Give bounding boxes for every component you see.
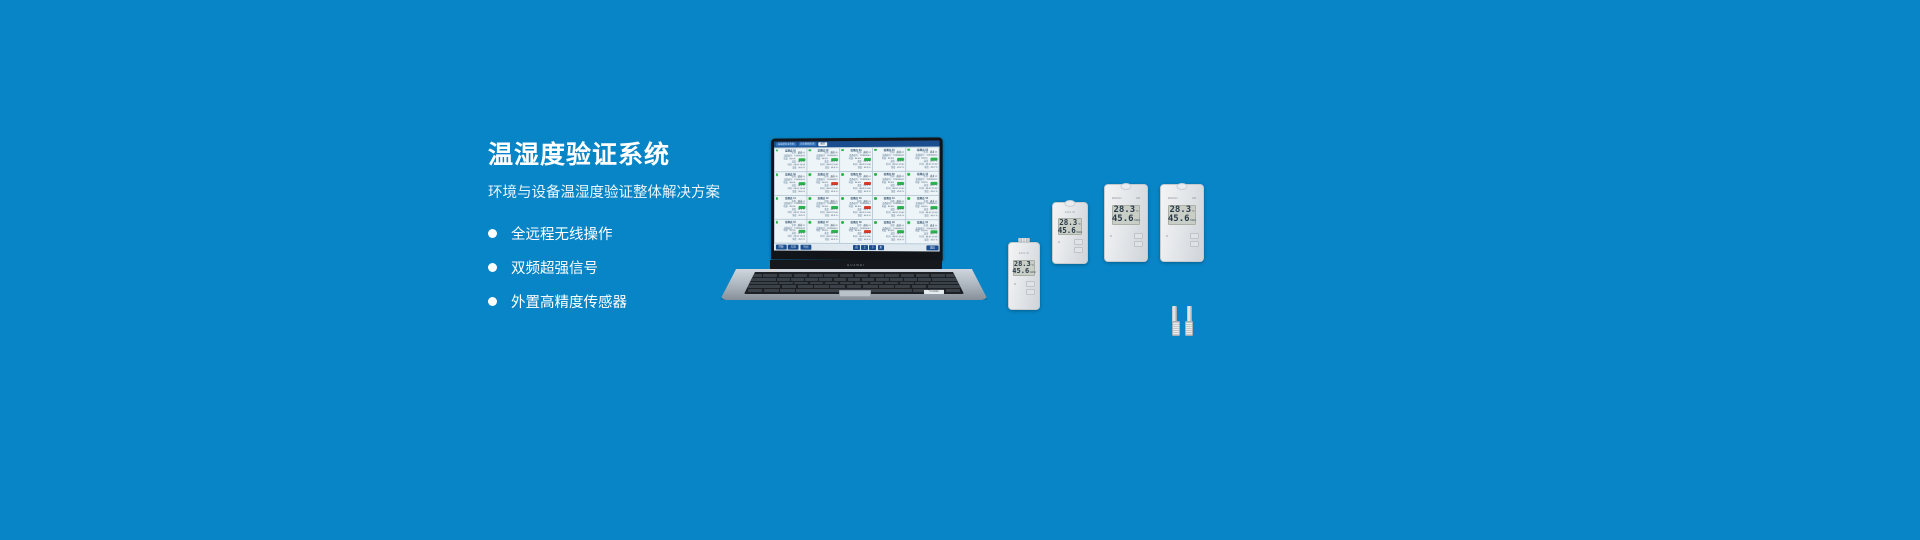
card-field-key: 湿度:: [858, 167, 863, 170]
card-title: 监测点 15: [908, 197, 938, 200]
device-lcd-display: 28.3 ℃ 45.6 %RH: [1112, 205, 1140, 225]
card-status-led-icon: [874, 197, 876, 199]
card-field: 湿度:45.6 %: [874, 167, 904, 170]
lcd-humidity-row: 45.6 %RH: [1171, 215, 1193, 224]
export-button[interactable]: 导出: [800, 244, 811, 250]
key[interactable]: [918, 278, 931, 281]
key[interactable]: [834, 278, 847, 281]
key[interactable]: [912, 285, 927, 288]
key[interactable]: [885, 274, 899, 277]
card-field-key: 湿度:: [891, 215, 896, 218]
device-brand-label: ENGIN: [1009, 252, 1039, 255]
status-led-icon: [1058, 241, 1060, 243]
device-button-up[interactable]: [1190, 233, 1199, 239]
key[interactable]: [830, 285, 845, 288]
device-body: ENGIN H8 28.3 ℃ 45.6 %RH: [1104, 184, 1148, 262]
keyboard-row: [748, 285, 960, 288]
device-lcd-display: 28.3 ℃ 45.6 %RH: [1058, 218, 1082, 235]
card-field-key: 电量:: [849, 182, 854, 185]
monitoring-card[interactable]: 监测点 15名称:通道 01设备编号:T23050012电量:95.6%温度:2…: [906, 196, 939, 220]
card-field-value: 45.6 %: [897, 215, 904, 218]
key[interactable]: [870, 282, 884, 285]
key[interactable]: [748, 278, 776, 281]
card-field-key: 电量:: [816, 206, 821, 209]
card-field-key: 湿度:: [825, 191, 830, 194]
status-led-icon: [1110, 235, 1112, 237]
device-body: ENGIN 28.3 ℃ 45.6 %RH: [1008, 242, 1040, 310]
device-button-group: [1190, 233, 1199, 247]
monitoring-card[interactable]: 监测点 20名称:通道 01设备编号:T23050012电量:95.6%温度:2…: [906, 220, 939, 244]
card-title: 监测点 11: [776, 197, 805, 200]
card-field-key: 湿度:: [792, 191, 797, 194]
card-field-key: 电量:: [915, 206, 920, 209]
card-field-value: 45.6 %: [798, 167, 805, 170]
key[interactable]: [931, 274, 945, 277]
card-field-value: 45.6 %: [831, 239, 838, 242]
card-field-key: 电量:: [783, 206, 788, 209]
key[interactable]: [798, 285, 813, 288]
card-field-key: 电量:: [783, 182, 788, 185]
card-field-value: 45.6 %: [798, 215, 805, 218]
device-body: ENGIN H8 28.3 ℃ 45.6 %RH: [1160, 184, 1204, 262]
card-field: 湿度:45.6 %: [841, 191, 870, 194]
key[interactable]: [824, 274, 838, 277]
card-field-key: 湿度:: [792, 239, 797, 242]
card-title: 监测点 14: [874, 197, 904, 200]
card-field: 湿度:45.6 %: [776, 239, 805, 242]
card-field-key: 湿度:: [924, 215, 929, 218]
monitoring-card[interactable]: 监测点 12名称:通道 01设备编号:T23050012电量:95.6%温度:2…: [807, 196, 839, 219]
card-field-value: 45.6 %: [931, 191, 938, 194]
key[interactable]: [825, 282, 839, 285]
card-field-key: 电量:: [882, 206, 887, 209]
laptop-brand-label: HUAWEI: [770, 260, 942, 269]
card-field-key: 湿度:: [858, 215, 863, 218]
key[interactable]: [885, 282, 899, 285]
device-button-up[interactable]: [1074, 239, 1083, 245]
device-button-group: [1074, 239, 1083, 253]
card-field: 湿度:45.6 %: [809, 215, 838, 218]
feature-label: 外置高精度传感器: [511, 291, 627, 312]
card-field-value: 45.6 %: [864, 215, 871, 218]
card-field-key: 湿度:: [891, 239, 896, 242]
key[interactable]: [748, 289, 762, 292]
card-status-led-icon: [908, 173, 910, 175]
key[interactable]: [946, 289, 960, 292]
hanging-hook: [1121, 183, 1132, 190]
key[interactable]: [819, 278, 832, 281]
card-field: 湿度:45.6 %: [809, 191, 838, 194]
card-field-key: 湿度:: [825, 239, 830, 242]
key[interactable]: [862, 278, 875, 281]
card-field-value: 45.6 %: [798, 191, 805, 194]
device-label-row: ENGIN H8: [1161, 196, 1203, 200]
laptop-screen: 温湿度验证系统 历史数据查询 报警 监测点 01名称:通道 01设备编号:T23…: [774, 140, 940, 251]
lcd-temperature-unit: ℃: [1136, 211, 1139, 214]
card-field: 湿度:45.6 %: [841, 215, 870, 218]
device-button-group: [1134, 233, 1143, 247]
card-field-key: 湿度:: [924, 167, 929, 170]
key[interactable]: [932, 278, 960, 281]
card-status-led-icon: [809, 173, 811, 175]
device-button-up[interactable]: [1134, 233, 1143, 239]
card-field: 湿度:45.6 %: [809, 239, 838, 242]
monitoring-card[interactable]: 监测点 18名称:通道 01设备编号:T23050012电量:95.6%温度:2…: [840, 220, 872, 244]
feature-label: 双频超强信号: [511, 257, 598, 278]
card-field: 湿度:45.6 %: [908, 239, 938, 242]
card-field-key: 湿度:: [792, 215, 797, 218]
device-button-down[interactable]: [1074, 247, 1083, 253]
card-field-key: 湿度:: [825, 215, 830, 218]
key[interactable]: [876, 278, 889, 281]
device-wireless-logger-1: ENGIN H8 28.3 ℃ 45.6 %RH: [1104, 184, 1148, 310]
card-field-key: 湿度:: [924, 240, 929, 243]
device-button-down[interactable]: [1190, 241, 1199, 247]
key[interactable]: [847, 285, 862, 288]
device-datalogger-basic: ENGIN 28.3 ℃ 45.6 %RH: [1008, 238, 1040, 310]
device-model-label: H8: [1136, 196, 1140, 200]
key[interactable]: [915, 282, 929, 285]
monitoring-card[interactable]: 监测点 10名称:通道 01设备编号:T23050012电量:95.6%温度:2…: [906, 171, 939, 195]
lcd-humidity-unit: %RH: [1076, 232, 1082, 235]
keyboard-row: [748, 282, 960, 285]
card-status-led-icon: [809, 197, 811, 199]
key[interactable]: [748, 282, 778, 285]
key[interactable]: [794, 282, 808, 285]
card-field: 湿度:45.6 %: [874, 191, 904, 194]
card-field: 湿度:45.6 %: [874, 239, 904, 242]
key[interactable]: [895, 285, 910, 288]
card-field-value: 45.6 %: [897, 191, 904, 194]
card-field: 湿度:45.6 %: [908, 167, 938, 170]
keyboard-row: [748, 274, 960, 277]
monitoring-card-grid: 监测点 01名称:通道 01设备编号:T23050012电量:95.6%温度:2…: [774, 146, 940, 244]
card-field: 湿度:45.6 %: [776, 191, 805, 194]
card-field-key: 湿度:: [891, 167, 896, 170]
card-status-led-icon: [841, 221, 843, 223]
device-button-down[interactable]: [1026, 289, 1035, 295]
card-status-led-icon: [908, 222, 910, 224]
device-button-up[interactable]: [1026, 281, 1035, 287]
exit-button[interactable]: 退出: [927, 245, 938, 251]
pager-first-button[interactable]: 首: [853, 245, 860, 251]
laptop-badge: HUAWEI: [924, 290, 944, 294]
device-body: ENGIN 28.3 ℃ 45.6 %RH: [1052, 202, 1088, 264]
lcd-humidity-unit: %RH: [1030, 272, 1036, 275]
card-field-value: 45.6 %: [897, 167, 904, 170]
card-field: 湿度:45.6 %: [908, 215, 938, 218]
key[interactable]: [748, 285, 780, 288]
card-field: 湿度:45.6 %: [841, 239, 870, 242]
bullet-dot-icon: [488, 297, 497, 306]
sensor-device-group: ENGIN 28.3 ℃ 45.6 %RH: [1000, 180, 1220, 310]
key[interactable]: [810, 282, 824, 285]
key[interactable]: [794, 274, 808, 277]
key[interactable]: [840, 274, 854, 277]
card-field-key: 湿度:: [825, 167, 830, 170]
pager-prev-button[interactable]: 上: [861, 245, 868, 251]
card-field-value: 45.6 %: [831, 167, 838, 170]
monitoring-card[interactable]: 监测点 11名称:通道 01设备编号:T23050012电量:95.6%温度:2…: [775, 196, 807, 219]
card-field-key: 电量:: [816, 158, 821, 161]
lcd-humidity-unit: %RH: [1134, 220, 1140, 223]
card-status-led-icon: [874, 173, 876, 175]
monitoring-card[interactable]: 监测点 07名称:通道 01设备编号:T23050012电量:95.6%温度:2…: [807, 172, 839, 195]
status-led-icon: [1014, 283, 1016, 285]
key[interactable]: [870, 274, 884, 277]
laptop-lid: 温湿度验证系统 历史数据查询 报警 监测点 01名称:通道 01设备编号:T23…: [771, 137, 943, 260]
card-field-value: 45.6 %: [931, 215, 938, 218]
lcd-humidity-row: 45.6 %RH: [1115, 215, 1137, 224]
card-field-key: 电量:: [882, 158, 887, 161]
keyboard-row: [748, 278, 960, 281]
key[interactable]: [855, 274, 869, 277]
lcd-temperature-unit: ℃: [1192, 211, 1195, 214]
card-field: 湿度:45.6 %: [776, 215, 805, 218]
key[interactable]: [791, 278, 804, 281]
card-status-led-icon: [809, 221, 811, 223]
monitoring-card[interactable]: 监测点 19名称:通道 01设备编号:T23050012电量:95.6%温度:2…: [873, 220, 906, 244]
card-field-value: 45.6 %: [864, 191, 871, 194]
card-field-key: 电量:: [816, 230, 821, 233]
card-field-key: 电量:: [783, 230, 788, 233]
key[interactable]: [916, 274, 930, 277]
device-brand-label: ENGIN: [1112, 196, 1122, 200]
card-field-value: 45.6 %: [931, 167, 938, 170]
key[interactable]: [855, 282, 869, 285]
device-lcd-display: 28.3 ℃ 45.6 %RH: [1013, 260, 1035, 276]
key[interactable]: [763, 274, 777, 277]
card-field-key: 湿度:: [858, 239, 863, 242]
monitoring-card[interactable]: 监测点 04名称:通道 01设备编号:T23050012电量:95.6%温度:2…: [873, 147, 906, 171]
card-field: 湿度:45.6 %: [841, 167, 870, 170]
pager-last-button[interactable]: 末: [878, 245, 885, 251]
tab-history[interactable]: 历史数据查询: [798, 142, 816, 146]
card-field-value: 45.6 %: [864, 239, 871, 242]
key[interactable]: [863, 285, 878, 288]
device-button-group: [1026, 281, 1035, 295]
key[interactable]: [779, 274, 793, 277]
status-led-icon: [1166, 235, 1168, 237]
card-field-key: 湿度:: [858, 191, 863, 194]
start-button[interactable]: 开始: [775, 244, 786, 250]
tab-alarm[interactable]: 报警: [818, 142, 827, 146]
card-field-key: 电量:: [915, 182, 920, 185]
key[interactable]: [879, 285, 894, 288]
probe-sensor-tip: [1185, 321, 1193, 336]
lcd-humidity-value: 45.6: [1168, 215, 1190, 224]
card-field-value: 45.6 %: [931, 240, 938, 243]
key[interactable]: [848, 278, 861, 281]
laptop-hinge: HUAWEI: [770, 260, 942, 269]
card-status-led-icon: [908, 197, 910, 199]
card-field-key: 电量:: [849, 230, 854, 233]
app-toolbar: 开始 打印 导出 首 上 下 末 退出: [774, 244, 940, 252]
monitoring-card[interactable]: 监测点 16名称:通道 01设备编号:T23050012电量:95.6%温度:2…: [775, 220, 807, 243]
key[interactable]: [764, 289, 778, 292]
card-field-key: 电量:: [915, 231, 920, 234]
key[interactable]: [840, 282, 854, 285]
card-field-value: 45.6 %: [798, 239, 805, 242]
lcd-humidity-value: 45.6: [1112, 215, 1134, 224]
device-button-down[interactable]: [1134, 241, 1143, 247]
card-field-value: 45.6 %: [897, 239, 904, 242]
device-wireless-logger-2: ENGIN H8 28.3 ℃ 45.6 %RH: [1160, 184, 1204, 310]
card-field: 湿度:45.6 %: [874, 215, 904, 218]
lcd-humidity-value: 45.6: [1012, 268, 1029, 275]
card-field-key: 电量:: [882, 182, 887, 185]
monitoring-card[interactable]: 监测点 05名称:通道 01设备编号:T23050012电量:95.6%温度:2…: [906, 147, 939, 171]
pager-next-button[interactable]: 下: [869, 245, 876, 251]
probe-sensor-tip: [1172, 321, 1180, 336]
card-field-key: 电量:: [915, 158, 920, 161]
card-field: 湿度:45.6 %: [776, 167, 805, 170]
monitoring-card[interactable]: 监测点 06名称:通道 01设备编号:T23050012电量:95.6%温度:2…: [775, 172, 807, 195]
key[interactable]: [779, 282, 793, 285]
device-lcd-display: 28.3 ℃ 45.6 %RH: [1168, 205, 1196, 225]
tab-monitoring[interactable]: 温湿度验证系统: [776, 142, 796, 146]
key[interactable]: [805, 278, 818, 281]
lcd-humidity-row: 45.6 %RH: [1016, 268, 1032, 275]
card-field-key: 电量:: [849, 158, 854, 161]
key[interactable]: [782, 285, 797, 288]
lcd-humidity-unit: %RH: [1190, 220, 1196, 223]
key[interactable]: [928, 285, 960, 288]
monitoring-card[interactable]: 监测点 13名称:通道 01设备编号:T23050012电量:95.6%温度:2…: [840, 196, 872, 220]
key[interactable]: [901, 274, 915, 277]
monitoring-card[interactable]: 监测点 17名称:通道 01设备编号:T23050012电量:95.6%温度:2…: [807, 220, 839, 244]
monitoring-card[interactable]: 监测点 09名称:通道 01设备编号:T23050012电量:95.6%温度:2…: [873, 172, 906, 196]
card-field: 湿度:45.6 %: [809, 167, 838, 170]
card-title: 监测点 12: [809, 197, 838, 200]
lcd-humidity-value: 45.6: [1058, 227, 1076, 235]
lcd-humidity-row: 45.6 %RH: [1061, 227, 1079, 235]
laptop-product-image: 温湿度验证系统 历史数据查询 报警 监测点 01名称:通道 01设备编号:T23…: [718, 138, 990, 300]
monitoring-card[interactable]: 监测点 08名称:通道 01设备编号:T23050012电量:95.6%温度:2…: [840, 172, 872, 196]
card-status-led-icon: [841, 173, 843, 175]
key[interactable]: [930, 282, 960, 285]
device-label-row: ENGIN H8: [1105, 196, 1147, 200]
device-model-label: H8: [1192, 196, 1196, 200]
card-field-value: 45.6 %: [864, 167, 871, 170]
device-brand-label: ENGIN: [1053, 211, 1087, 214]
card-field-key: 电量:: [882, 231, 887, 234]
feature-label: 全远程无线操作: [511, 223, 613, 244]
monitoring-card[interactable]: 监测点 14名称:通道 01设备编号:T23050012电量:95.6%温度:2…: [873, 196, 906, 220]
key[interactable]: [809, 274, 823, 277]
card-field-key: 电量:: [849, 206, 854, 209]
print-button[interactable]: 打印: [788, 244, 799, 250]
card-field-value: 45.6 %: [831, 215, 838, 218]
card-field-key: 湿度:: [924, 191, 929, 194]
card-field-value: 45.6 %: [831, 191, 838, 194]
bullet-dot-icon: [488, 263, 497, 272]
bullet-dot-icon: [488, 229, 497, 238]
key[interactable]: [890, 278, 903, 281]
device-brand-label: ENGIN: [1168, 196, 1178, 200]
card-field-key: 湿度:: [891, 191, 896, 194]
key[interactable]: [777, 278, 790, 281]
card-field-key: 湿度:: [792, 167, 797, 170]
card-field-key: 电量:: [816, 182, 821, 185]
device-datalogger-external-probe: ENGIN 28.3 ℃ 45.6 %RH: [1052, 202, 1088, 310]
card-title: 监测点 13: [841, 197, 870, 200]
product-banner: 温湿度验证系统 环境与设备温湿度验证整体解决方案 全远程无线操作 双频超强信号 …: [0, 0, 1920, 540]
key[interactable]: [904, 278, 917, 281]
monitoring-card[interactable]: 监测点 01名称:通道 01设备编号:T23050012电量:95.6%温度:2…: [775, 148, 807, 171]
key[interactable]: [900, 282, 914, 285]
card-status-led-icon: [874, 221, 876, 223]
laptop-trackpad[interactable]: [839, 290, 871, 297]
key[interactable]: [780, 289, 794, 292]
key[interactable]: [814, 285, 829, 288]
monitoring-card[interactable]: 监测点 02名称:通道 01设备编号:T23050012电量:95.6%温度:2…: [807, 148, 839, 172]
card-field: 湿度:45.6 %: [908, 191, 938, 194]
card-status-led-icon: [841, 197, 843, 199]
hanging-hook: [1177, 183, 1188, 190]
hanging-hook: [1065, 200, 1076, 207]
monitoring-card[interactable]: 监测点 03名称:通道 01设备编号:T23050012电量:95.6%温度:2…: [840, 147, 872, 171]
card-field-key: 电量:: [783, 159, 788, 162]
